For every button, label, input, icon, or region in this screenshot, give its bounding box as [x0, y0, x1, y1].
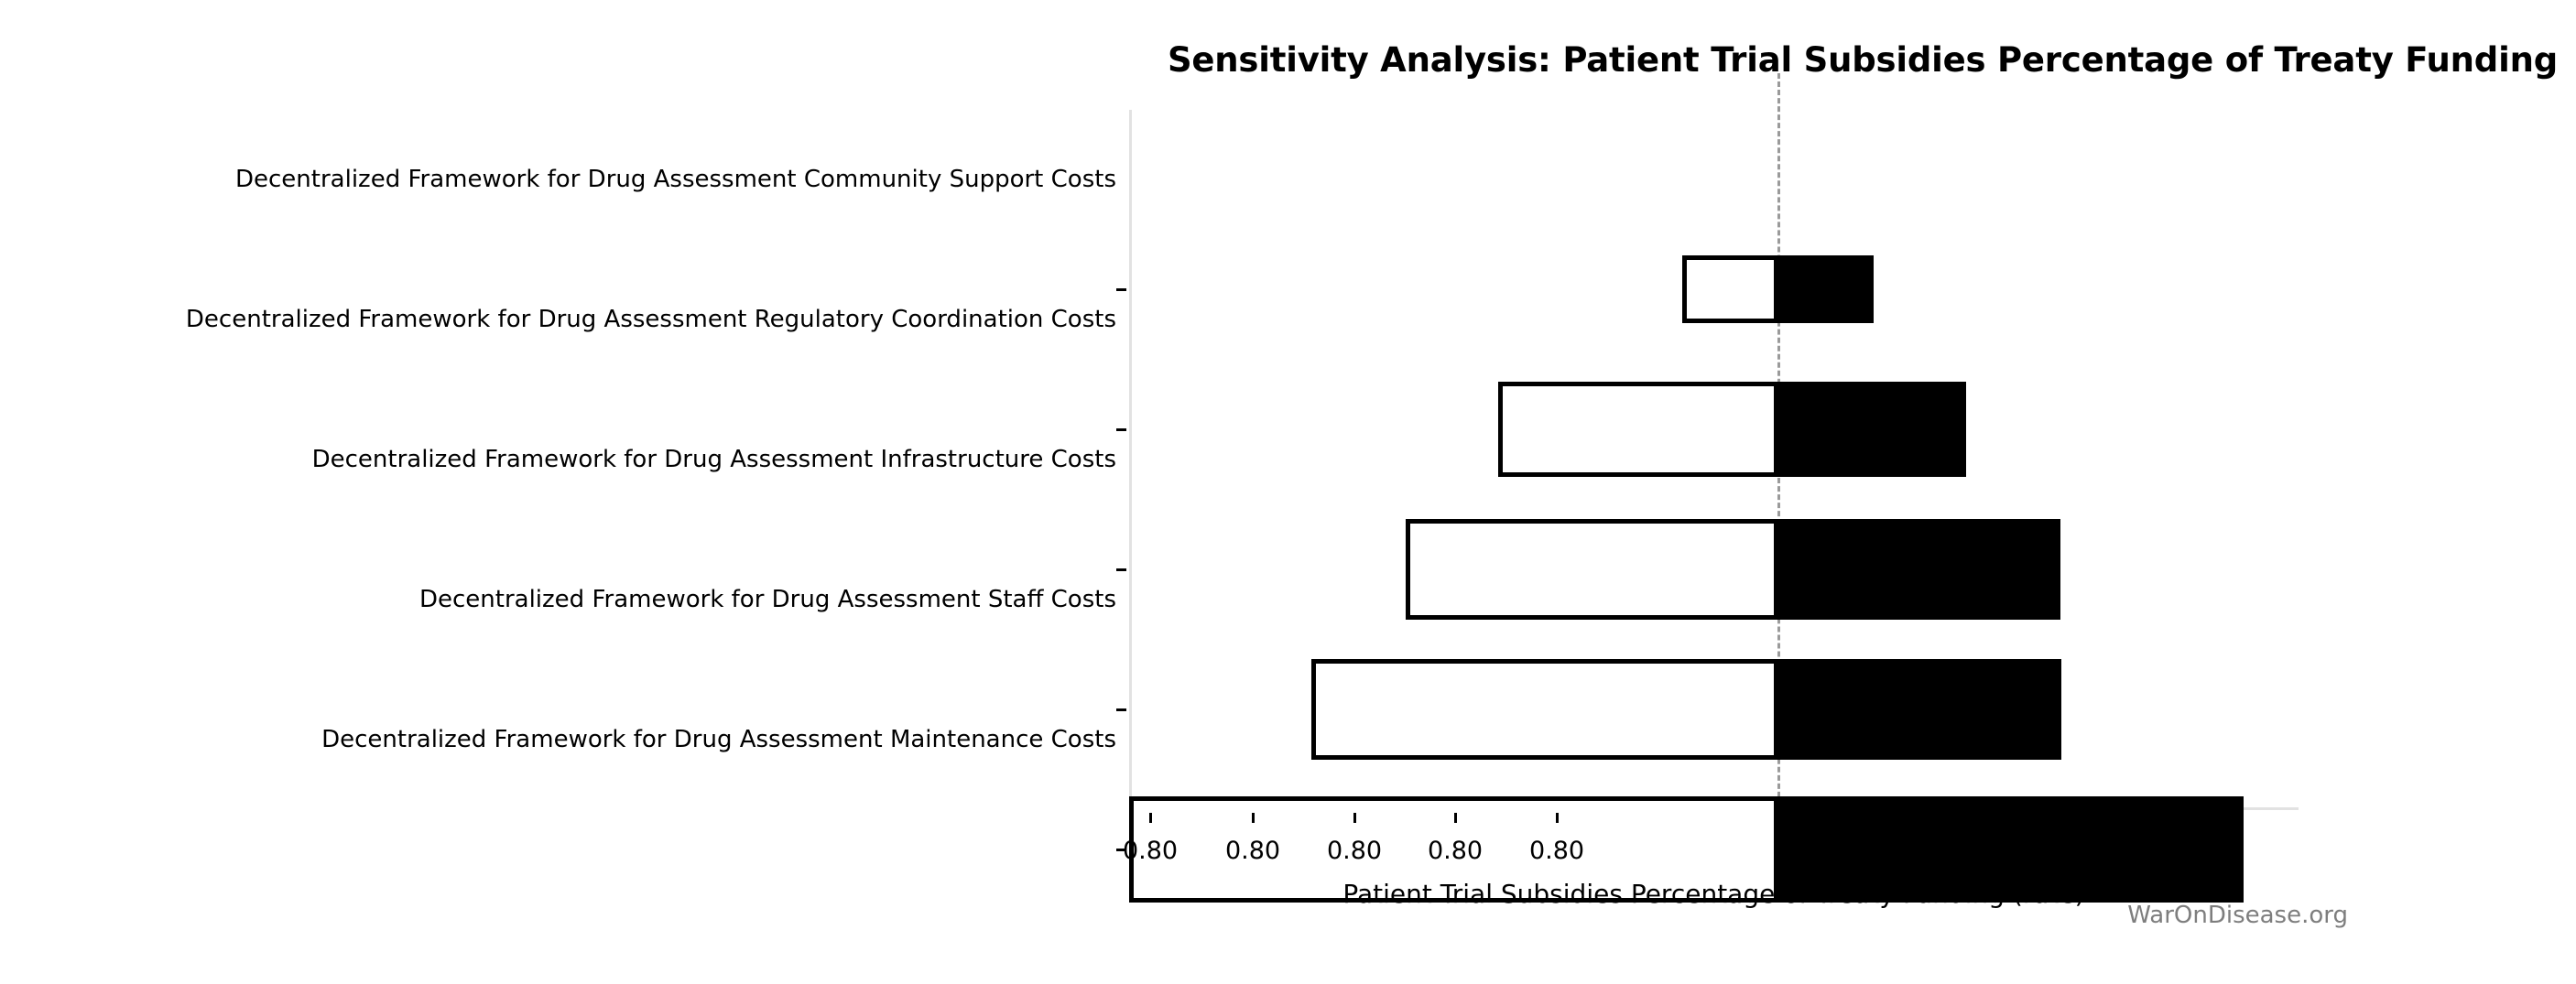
x-axis-tick-mark [1556, 813, 1559, 823]
x-axis-tick-label: 0.80 [1225, 837, 1280, 865]
bar-segment-high[interactable] [1777, 659, 2061, 760]
x-axis-tick-label: 0.80 [1123, 837, 1178, 865]
bar-segment-low[interactable] [1406, 519, 1778, 620]
plot-area: 0.80 0.80 0.80 0.80 0.80 [1129, 110, 2299, 810]
bar-segment-low[interactable] [1498, 382, 1778, 477]
bar-segment-high[interactable] [1777, 519, 2060, 620]
chart-title: Sensitivity Analysis: Patient Trial Subs… [0, 40, 2558, 80]
y-axis-tick-mark [1116, 708, 1126, 711]
x-axis-tick-label: 0.80 [1529, 837, 1584, 865]
bar-segment-high[interactable] [1777, 255, 1874, 323]
y-axis-tick-label: Decentralized Framework for Drug Assessm… [235, 166, 1116, 193]
bar-segment-low[interactable] [1682, 255, 1778, 323]
x-axis-tick-label: 0.80 [1327, 837, 1382, 865]
y-axis-tick-label: Decentralized Framework for Drug Assessm… [186, 306, 1116, 333]
x-axis-tick-mark [1454, 813, 1457, 823]
x-axis-tick-mark [1252, 813, 1255, 823]
y-axis-tick-label: Decentralized Framework for Drug Assessm… [321, 726, 1116, 753]
x-axis-tick-label: 0.80 [1428, 837, 1483, 865]
y-axis-tick-mark [1116, 288, 1126, 291]
x-axis-title: Patient Trial Subsidies Percentage of Tr… [1129, 879, 2299, 909]
x-axis-tick-mark [1149, 813, 1152, 823]
bar-segment-high[interactable] [1777, 382, 1966, 477]
y-axis-tick-label: Decentralized Framework for Drug Assessm… [312, 446, 1116, 473]
y-axis-spine [1129, 110, 1132, 810]
x-axis-tick-mark [1353, 813, 1356, 823]
y-axis-tick-mark [1116, 428, 1126, 431]
watermark: WarOnDisease.org [2127, 902, 2348, 929]
y-axis-tick-mark [1116, 568, 1126, 571]
bar-segment-low[interactable] [1311, 659, 1778, 760]
y-axis-tick-label: Decentralized Framework for Drug Assessm… [419, 586, 1116, 613]
